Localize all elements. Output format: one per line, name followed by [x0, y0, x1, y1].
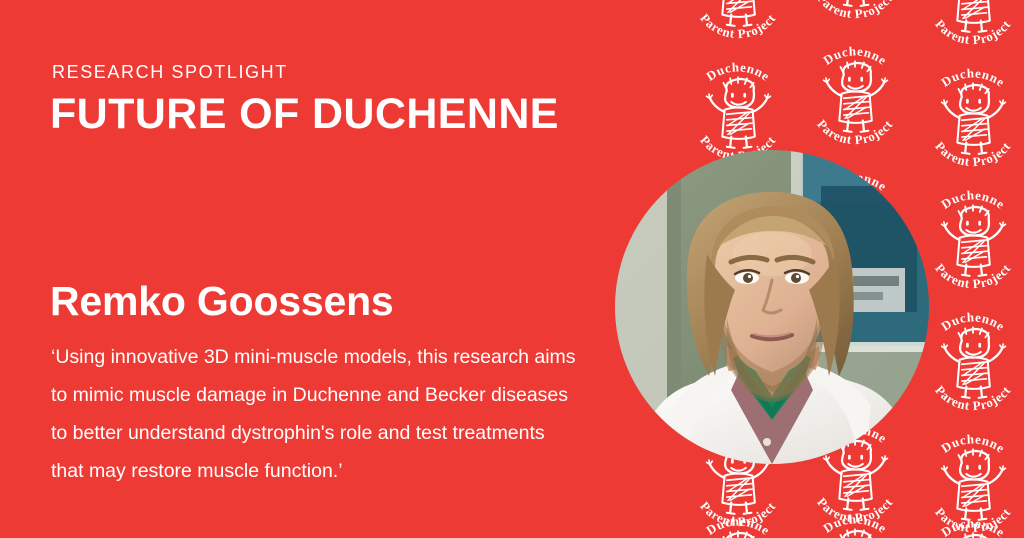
research-spotlight-banner: DuchenneParent ProjectDuchenneParent Pro…: [0, 0, 1024, 538]
quote-line: ‘Using innovative 3D mini-muscle models,…: [51, 338, 626, 376]
svg-text:Parent Project: Parent Project: [932, 139, 1014, 169]
brand-logo-icon: DuchenneParent Project: [917, 512, 1024, 538]
portrait-illustration: [615, 150, 929, 464]
duchenne-parent-project-child-icon: DuchenneParent Project: [917, 184, 1024, 296]
duchenne-parent-project-child-icon: DuchenneParent Project: [917, 512, 1024, 538]
brand-logo-icon: DuchenneParent Project: [917, 184, 1024, 296]
quote-line: to mimic muscle damage in Duchenne and B…: [51, 376, 626, 414]
duchenne-parent-project-child-icon: DuchenneParent Project: [799, 0, 911, 26]
svg-text:Parent Project: Parent Project: [932, 17, 1014, 47]
brand-logo-icon: DuchenneParent Project: [917, 306, 1024, 418]
eyebrow-label: RESEARCH SPOTLIGHT: [52, 61, 288, 83]
portrait-photo: [615, 150, 929, 464]
duchenne-parent-project-child-icon: DuchenneParent Project: [917, 0, 1024, 52]
duchenne-parent-project-child-icon: DuchenneParent Project: [682, 0, 794, 46]
brand-logo-icon: DuchenneParent Project: [799, 508, 911, 538]
duchenne-parent-project-child-icon: DuchenneParent Project: [799, 40, 911, 152]
quote-line: to better understand dystrophin's role a…: [51, 414, 626, 452]
quote-text: ‘Using innovative 3D mini-muscle models,…: [51, 338, 626, 490]
brand-logo-icon: DuchenneParent Project: [799, 40, 911, 152]
brand-logo-icon: DuchenneParent Project: [917, 62, 1024, 174]
brand-logo-icon: DuchenneParent Project: [799, 0, 911, 26]
text-block: RESEARCH SPOTLIGHT FUTURE OF DUCHENNE Re…: [0, 0, 660, 538]
svg-text:Parent Project: Parent Project: [814, 0, 896, 21]
svg-text:Parent Project: Parent Project: [814, 117, 896, 147]
quote-line: that may restore muscle function.’: [51, 452, 626, 490]
person-name: Remko Goossens: [50, 278, 394, 324]
brand-logo-icon: DuchenneParent Project: [917, 0, 1024, 52]
brand-logo-icon: DuchenneParent Project: [682, 0, 794, 46]
brand-logo-icon: DuchenneParent Project: [682, 510, 794, 538]
svg-text:Parent Project: Parent Project: [932, 261, 1014, 291]
duchenne-parent-project-child-icon: DuchenneParent Project: [682, 510, 794, 538]
svg-text:Parent Project: Parent Project: [932, 383, 1014, 413]
page-title: FUTURE OF DUCHENNE: [50, 90, 559, 138]
svg-text:Parent Project: Parent Project: [697, 11, 779, 41]
duchenne-parent-project-child-icon: DuchenneParent Project: [799, 508, 911, 538]
duchenne-parent-project-child-icon: DuchenneParent Project: [917, 62, 1024, 174]
duchenne-parent-project-child-icon: DuchenneParent Project: [917, 306, 1024, 418]
